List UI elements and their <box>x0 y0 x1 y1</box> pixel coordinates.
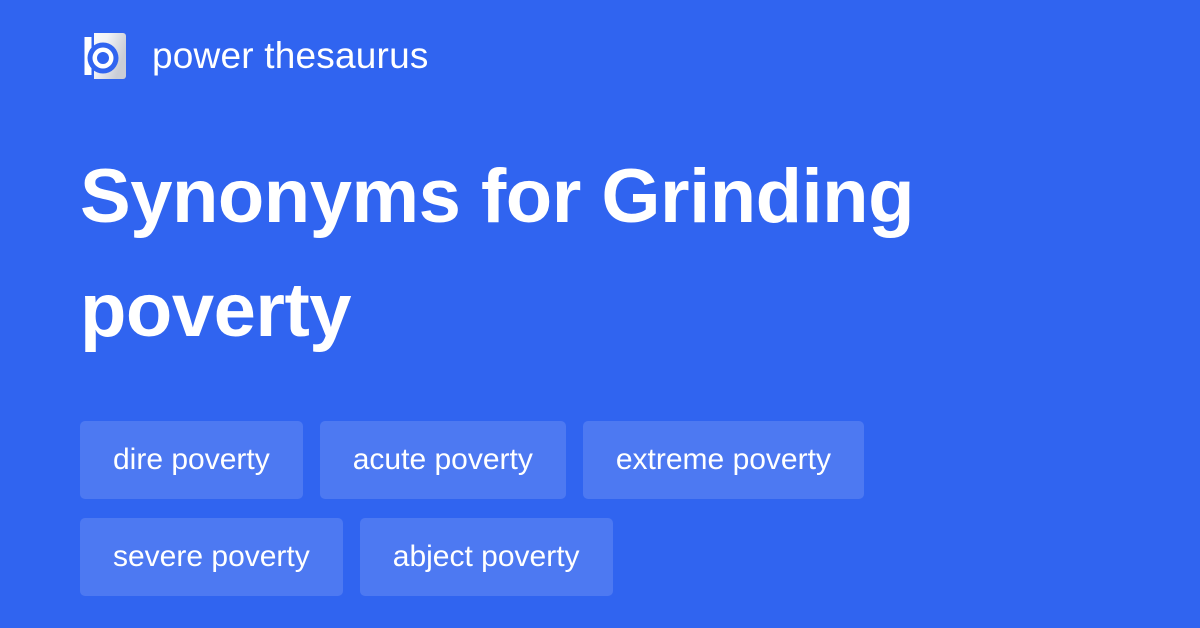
synonym-chip[interactable]: extreme poverty <box>583 421 864 499</box>
synonym-chip[interactable]: severe poverty <box>80 518 343 596</box>
synonym-chip[interactable]: acute poverty <box>320 421 566 499</box>
share-card: power thesaurus Synonyms for Grinding po… <box>0 0 1200 628</box>
power-thesaurus-logo-icon <box>80 33 126 79</box>
synonym-chip[interactable]: abject poverty <box>360 518 613 596</box>
brand-header[interactable]: power thesaurus <box>80 30 429 82</box>
synonym-chip[interactable]: dire poverty <box>80 421 303 499</box>
brand-name: power thesaurus <box>152 34 429 78</box>
synonym-list: dire poverty acute poverty extreme pover… <box>80 421 1120 596</box>
page-title: Synonyms for Grinding poverty <box>80 140 1040 368</box>
